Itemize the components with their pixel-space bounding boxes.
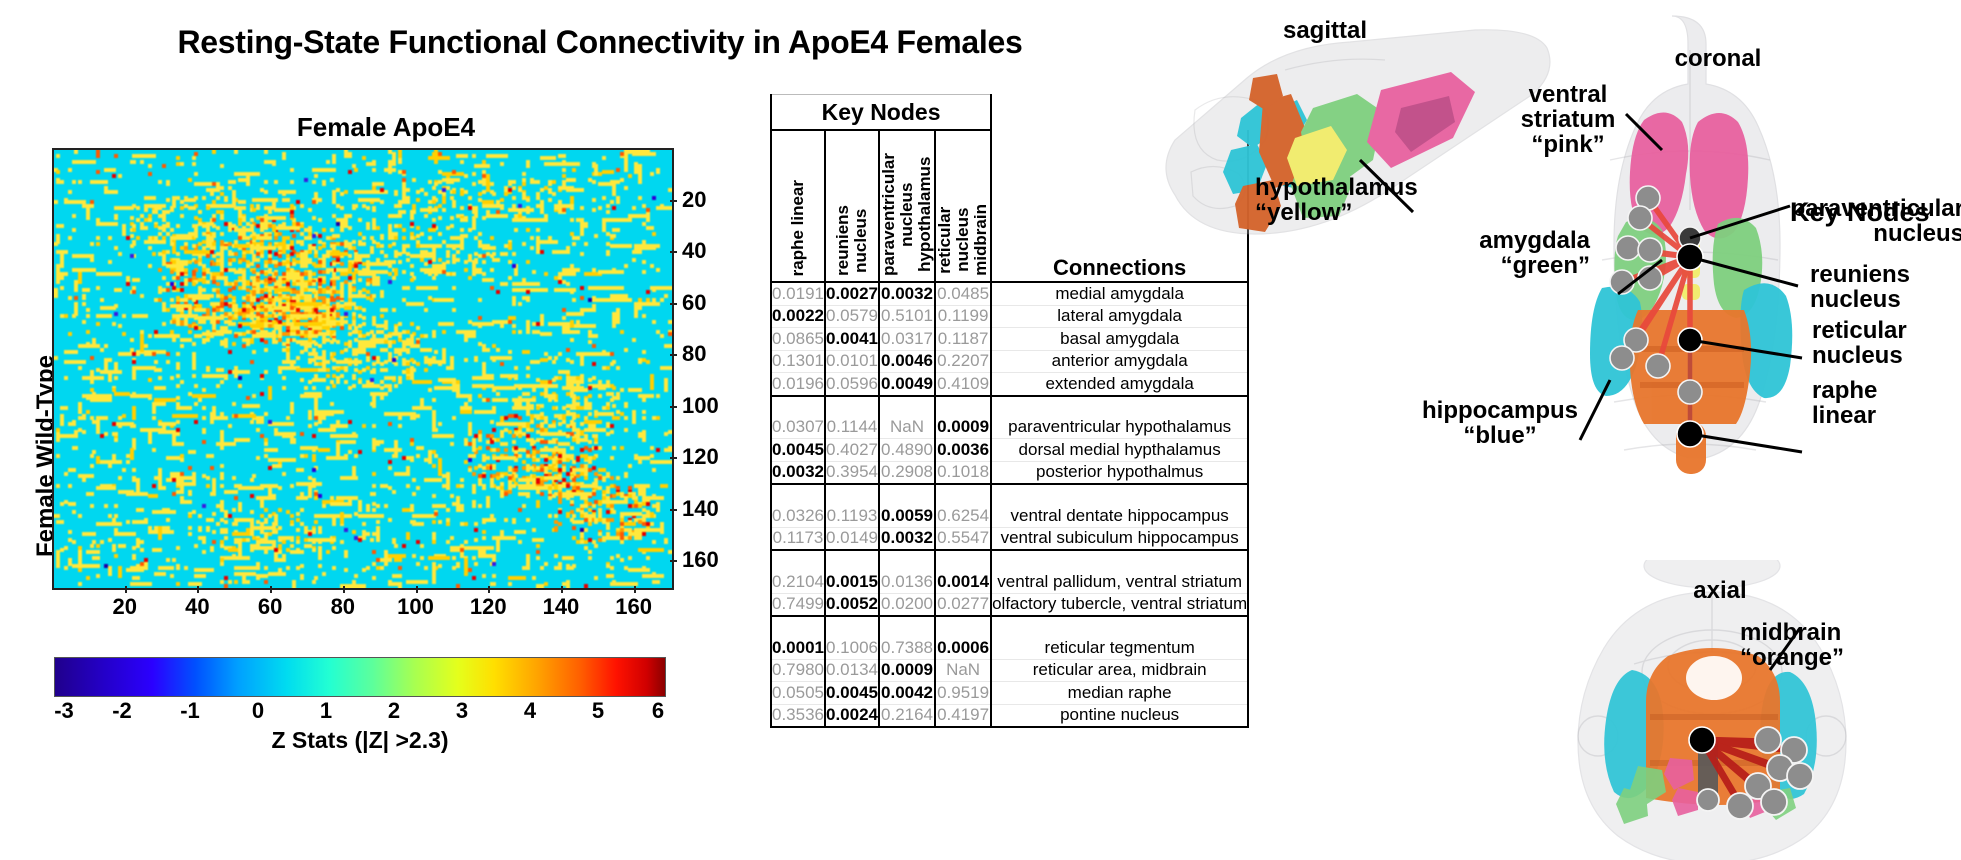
coronal-annotation-paraventricular-nucleus: paraventricular nucleus xyxy=(1772,196,1961,246)
heatmap-x-tick xyxy=(343,586,345,593)
table-cell-pvalue: NaN xyxy=(879,417,935,439)
heatmap-x-tick-label: 20 xyxy=(112,594,136,620)
table-cell-pvalue: 0.1018 xyxy=(935,461,991,484)
table-cell-connection: lateral amygdala xyxy=(991,305,1248,328)
table-cell-pvalue: 0.0307 xyxy=(771,417,825,439)
table-cell-pvalue: 0.0134 xyxy=(825,659,879,682)
heatmap-y-tick xyxy=(670,354,677,356)
table-cell-connection: paraventricular hypothalamus xyxy=(991,417,1248,439)
table-cell-pvalue: 0.0036 xyxy=(935,439,991,462)
colorbar-tick-label: -2 xyxy=(112,698,132,724)
table-cell-connection: ventral pallidum, ventral striatum xyxy=(991,571,1248,593)
table-cell-pvalue: 0.0277 xyxy=(935,593,991,616)
heatmap-x-tick xyxy=(125,586,127,593)
table-cell-pvalue: 0.0009 xyxy=(879,659,935,682)
heatmap-y-tick-label: 120 xyxy=(682,444,719,470)
table-cell-pvalue: 0.0001 xyxy=(771,637,825,659)
table-cell-pvalue: 0.0317 xyxy=(879,328,935,351)
colorbar-label: Z Stats (|Z| >2.3) xyxy=(54,727,666,754)
table-cell-connection: ventral dentate hippocampus xyxy=(991,505,1248,527)
coronal-annotation-amygdala: amygdala “green” xyxy=(1420,228,1590,278)
table-cell-pvalue: 0.5547 xyxy=(935,527,991,550)
colorbar-tick-label: -3 xyxy=(54,698,74,724)
table-cell-pvalue: 0.0032 xyxy=(771,461,825,484)
coronal-annotation-reuniens-nucleus: reuniens nucleus xyxy=(1810,262,1960,312)
table-cell-pvalue: 0.4027 xyxy=(825,439,879,462)
heatmap-y-tick-label: 40 xyxy=(682,238,706,264)
heatmap-y-tick-label: 100 xyxy=(682,393,719,419)
heatmap-y-tick xyxy=(670,560,677,562)
colorbar-tick-label: 5 xyxy=(592,698,604,724)
colorbar: -3-2-10123456 Z Stats (|Z| >2.3) xyxy=(54,657,666,697)
table-cell-pvalue: 0.0032 xyxy=(879,527,935,550)
table-cell-pvalue: 0.2207 xyxy=(935,350,991,373)
heatmap-y-tick-label: 140 xyxy=(682,496,719,522)
table-row: 0.01960.05960.00490.4109extended amygdal… xyxy=(771,373,1248,396)
table-cell-pvalue: 0.1301 xyxy=(771,350,825,373)
heatmap-y-tick-label: 20 xyxy=(682,187,706,213)
table-cell-pvalue: 0.0196 xyxy=(771,373,825,396)
heatmap-y-tick-label: 60 xyxy=(682,290,706,316)
heatmap-x-tick-label: 40 xyxy=(185,594,209,620)
axial-annotation-midbrain: midbrain “orange” xyxy=(1740,620,1950,670)
table-row: 0.00450.40270.48900.0036dorsal medial hy… xyxy=(771,439,1248,462)
table-cell-pvalue: 0.0865 xyxy=(771,328,825,351)
heatmap-x-tick xyxy=(270,586,272,593)
heatmap-x-tick-label: 80 xyxy=(331,594,355,620)
table-cell-pvalue: 0.0101 xyxy=(825,350,879,373)
key-nodes-super-header: Key Nodes xyxy=(771,95,991,131)
table-cell-pvalue: 0.0049 xyxy=(879,373,935,396)
table-cell-pvalue: 0.0200 xyxy=(879,593,935,616)
heatmap-x-tick-label: 160 xyxy=(615,594,652,620)
heatmap-y-tick xyxy=(670,200,677,202)
heatmap-x-tick-label: 100 xyxy=(397,594,434,620)
table-row: 0.00320.39540.29080.1018posterior hypoth… xyxy=(771,461,1248,484)
colorbar-tick-label: 1 xyxy=(320,698,332,724)
table-cell-pvalue: 0.0485 xyxy=(935,282,991,305)
table-cell-pvalue: 0.5101 xyxy=(879,305,935,328)
table-cell-pvalue: 0.7499 xyxy=(771,593,825,616)
table-cell-pvalue: 0.0136 xyxy=(879,571,935,593)
heatmap-panel: Female ApoE4 Female Wild-Type 2040608010… xyxy=(16,112,756,812)
sagittal-view-label: sagittal xyxy=(1245,18,1405,43)
table-cell-pvalue: 0.0046 xyxy=(879,350,935,373)
heatmap-y-tick xyxy=(670,509,677,511)
table-cell-pvalue: 0.2104 xyxy=(771,571,825,593)
table-cell-pvalue: 0.4197 xyxy=(935,704,991,727)
table-cell-pvalue: 0.0022 xyxy=(771,305,825,328)
heatmap-x-tick xyxy=(634,586,636,593)
table-block-separator xyxy=(771,396,1248,417)
table-cell-pvalue: 0.0045 xyxy=(825,682,879,705)
table-cell-pvalue: 0.0032 xyxy=(879,282,935,305)
table-cell-pvalue: 0.1193 xyxy=(825,505,879,527)
table-cell-pvalue: 0.0149 xyxy=(825,527,879,550)
heatmap-matrix xyxy=(54,150,672,588)
colorbar-tick-label: 4 xyxy=(524,698,536,724)
table-cell-pvalue: 0.1144 xyxy=(825,417,879,439)
heatmap-x-tick-label: 120 xyxy=(470,594,507,620)
table-row: 0.21040.00150.01360.0014ventral pallidum… xyxy=(771,571,1248,593)
table-cell-connection: basal amygdala xyxy=(991,328,1248,351)
table-cell-pvalue: 0.1006 xyxy=(825,637,879,659)
table-cell-pvalue: 0.1187 xyxy=(935,328,991,351)
table-cell-connection: anterior amygdala xyxy=(991,350,1248,373)
heatmap-plot-area xyxy=(52,148,674,590)
table-row: 0.35360.00240.21640.4197pontine nucleus xyxy=(771,704,1248,727)
heatmap-x-tick xyxy=(197,586,199,593)
heatmap-y-tick xyxy=(670,457,677,459)
colorbar-gradient xyxy=(54,657,666,697)
table-cell-pvalue: 0.0579 xyxy=(825,305,879,328)
coronal-annotation-hippocampus: hippocampus “blue” xyxy=(1400,398,1600,448)
heatmap-x-tick xyxy=(561,586,563,593)
table-cell-connection: median raphe xyxy=(991,682,1248,705)
table-cell-pvalue: 0.4109 xyxy=(935,373,991,396)
heatmap-y-tick xyxy=(670,251,677,253)
table-cell-connection: ventral subiculum hippocampus xyxy=(991,527,1248,550)
colorbar-tick-label: -1 xyxy=(180,698,200,724)
table-cell-pvalue: 0.0042 xyxy=(879,682,935,705)
table-cell-pvalue: 0.0596 xyxy=(825,373,879,396)
table-cell-pvalue: 0.6254 xyxy=(935,505,991,527)
figure-title: Resting-State Functional Connectivity in… xyxy=(110,24,1090,61)
heatmap-y-tick xyxy=(670,303,677,305)
table-cell-pvalue: 0.3536 xyxy=(771,704,825,727)
table-block-separator xyxy=(771,616,1248,637)
sagittal-annotation-hypothalamus: hypothalamus “yellow” xyxy=(1255,175,1485,225)
coronal-view-label: coronal xyxy=(1638,46,1798,71)
table-cell-pvalue: 0.0006 xyxy=(935,637,991,659)
coronal-annotation-raphe-linear: raphe linear xyxy=(1812,378,1961,428)
table-row: 0.11730.01490.00320.5547ventral subiculu… xyxy=(771,527,1248,550)
heatmap-y-tick-label: 160 xyxy=(682,547,719,573)
column-header-raphe-linear: raphe linear xyxy=(771,130,825,282)
table-cell-connection: reticular tegmentum xyxy=(991,637,1248,659)
table-cell-pvalue: 0.3954 xyxy=(825,461,879,484)
table-row: 0.00010.10060.73880.0006reticular tegmen… xyxy=(771,637,1248,659)
table-cell-connection: pontine nucleus xyxy=(991,704,1248,727)
table-cell-pvalue: 0.0505 xyxy=(771,682,825,705)
table-cell-pvalue: 0.1173 xyxy=(771,527,825,550)
colorbar-tick-label: 0 xyxy=(252,698,264,724)
table-row: 0.79800.01340.0009NaNreticular area, mid… xyxy=(771,659,1248,682)
table-row: 0.00220.05790.51010.1199lateral amygdala xyxy=(771,305,1248,328)
table-cell-pvalue: 0.9519 xyxy=(935,682,991,705)
heatmap-y-tick xyxy=(670,406,677,408)
coronal-annotation-reticular-nucleus: reticular nucleus xyxy=(1812,318,1961,368)
heatmap-x-tick-label: 60 xyxy=(258,594,282,620)
heatmap-title: Female ApoE4 xyxy=(66,112,706,143)
table-cell-pvalue: 0.2164 xyxy=(879,704,935,727)
coronal-annotation-ventral-striatum: ventral striatum “pink” xyxy=(1478,82,1658,158)
table-cell-connection: reticular area, midbrain xyxy=(991,659,1248,682)
table-cell-pvalue: 0.0024 xyxy=(825,704,879,727)
table-cell-pvalue: 0.7980 xyxy=(771,659,825,682)
table-body: 0.01910.00270.00320.0485medial amygdala0… xyxy=(771,282,1248,727)
table-cell-pvalue: NaN xyxy=(935,659,991,682)
table-row: 0.03070.1144NaN0.0009paraventricular hyp… xyxy=(771,417,1248,439)
table-cell-pvalue: 0.0014 xyxy=(935,571,991,593)
table-row: 0.05050.00450.00420.9519median raphe xyxy=(771,682,1248,705)
colorbar-tick-label: 6 xyxy=(652,698,664,724)
table-cell-pvalue: 0.0015 xyxy=(825,571,879,593)
axial-view-label: axial xyxy=(1650,578,1790,603)
table-cell-connection: extended amygdala xyxy=(991,373,1248,396)
table-cell-pvalue: 0.0041 xyxy=(825,328,879,351)
heatmap-x-tick xyxy=(416,586,418,593)
column-header-reticular-nucleus-midbrain: reticular nucleus midbrain xyxy=(935,130,991,282)
brain-axial-render xyxy=(1562,560,1862,860)
colorbar-tick-label: 3 xyxy=(456,698,468,724)
heatmap-x-tick xyxy=(488,586,490,593)
column-header-reuniens-nucleus: reuniens nucleus xyxy=(825,130,879,282)
table-cell-pvalue: 0.0052 xyxy=(825,593,879,616)
table-cell-pvalue: 0.2908 xyxy=(879,461,935,484)
table-cell-pvalue: 0.0009 xyxy=(935,417,991,439)
table-cell-connection: olfactory tubercle, ventral striatum xyxy=(991,593,1248,616)
table-row: 0.08650.00410.03170.1187basal amygdala xyxy=(771,328,1248,351)
table-row: 0.03260.11930.00590.6254ventral dentate … xyxy=(771,505,1248,527)
table-block-separator xyxy=(771,550,1248,571)
table-cell-connection: posterior hypothalmus xyxy=(991,461,1248,484)
table-row: 0.13010.01010.00460.2207anterior amygdal… xyxy=(771,350,1248,373)
table-cell-pvalue: 0.0191 xyxy=(771,282,825,305)
table-cell-pvalue: 0.0059 xyxy=(879,505,935,527)
table-cell-pvalue: 0.1199 xyxy=(935,305,991,328)
table-cell-pvalue: 0.0045 xyxy=(771,439,825,462)
table-cell-pvalue: 0.4890 xyxy=(879,439,935,462)
heatmap-y-tick-label: 80 xyxy=(682,341,706,367)
table-cell-connection: dorsal medial hypthalamus xyxy=(991,439,1248,462)
column-header-paraventricular-nucleus-hypothalamus: paraventricular nucleus hypothalamus xyxy=(879,130,935,282)
heatmap-x-tick-label: 140 xyxy=(543,594,580,620)
table-cell-pvalue: 0.0326 xyxy=(771,505,825,527)
table-row: 0.74990.00520.02000.0277olfactory tuberc… xyxy=(771,593,1248,616)
colorbar-tick-label: 2 xyxy=(388,698,400,724)
table-cell-pvalue: 0.7388 xyxy=(879,637,935,659)
table-cell-pvalue: 0.0027 xyxy=(825,282,879,305)
table-block-separator xyxy=(771,484,1248,505)
